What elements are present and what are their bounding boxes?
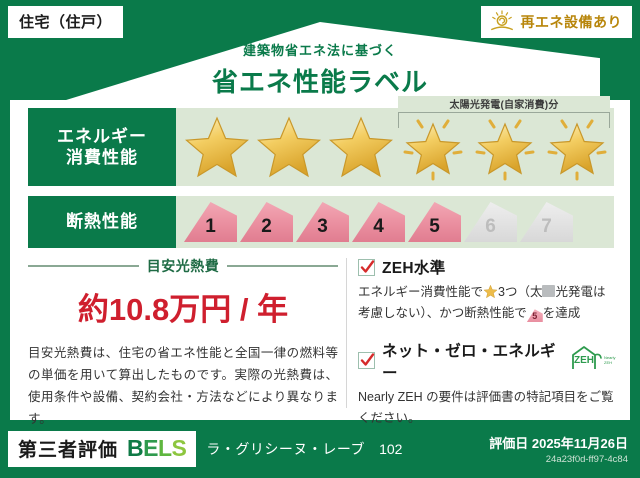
sun-icon — [489, 10, 515, 34]
utility-cost-heading: 目安光熱費 — [28, 256, 338, 276]
bels-logo: BELS — [127, 435, 186, 462]
insulation-scale-area: 1 2 3 4 5 6 7 — [176, 196, 614, 248]
utility-cost-amount: 約10.8万円 / 年 — [28, 284, 338, 329]
title-main: 省エネ性能ラベル — [0, 62, 640, 99]
zeh-section: ZEH水準 エネルギー消費性能で3つ（太光発電は考慮しない）、かつ断熱性能で5を… — [358, 256, 616, 429]
zeh-standard-description: エネルギー消費性能で3つ（太光発電は考慮しない）、かつ断熱性能で5を達成 — [358, 282, 616, 325]
energy-performance-stars-area: 太陽光発電(自家消費)分 — [176, 108, 614, 186]
label-body: エネルギー 消費性能 太陽光発電(自家消費)分 — [10, 100, 630, 420]
insulation-performance-row: 断熱性能 1 2 3 4 5 6 7 — [28, 196, 614, 248]
insulation-scale: 1 2 3 4 5 6 7 — [176, 202, 573, 242]
evaluation-meta: 評価日 2025年11月26日 24a23f0d-ff97-4c84 — [489, 433, 628, 465]
insulation-level: 4 — [352, 202, 405, 242]
evaluation-id: 24a23f0d-ff97-4c84 — [489, 454, 628, 465]
checkbox-checked-icon — [358, 352, 375, 369]
energy-performance-row: エネルギー 消費性能 太陽光発電(自家消費)分 — [28, 108, 614, 186]
bels-jp-label: 第三者評価 — [18, 435, 118, 462]
insulation-level: 1 — [184, 202, 237, 242]
label-title-block: 建築物省エネ法に基づく 省エネ性能ラベル — [0, 40, 640, 99]
insulation-level: 3 — [296, 202, 349, 242]
solar-bracket — [398, 112, 610, 128]
evaluation-date: 評価日 2025年11月26日 — [489, 433, 628, 452]
svg-text:ZEH: ZEH — [574, 355, 594, 366]
zeh-logo-icon: ZEH Nearly ZEH — [570, 345, 616, 376]
bels-evaluation-badge: 第三者評価 BELS — [8, 431, 196, 467]
renewable-equipment-badge: 再エネ設備あり — [481, 6, 633, 38]
insulation-level: 2 — [240, 202, 293, 242]
insulation-level: 6 — [464, 202, 517, 242]
net-zero-energy-title: ネット・ゼロ・エネルギー — [382, 339, 559, 383]
checkbox-checked-icon — [358, 259, 375, 276]
energy-performance-label: エネルギー 消費性能 — [28, 108, 176, 186]
property-unit-number: 102 — [379, 441, 402, 457]
zeh-standard-title: ZEH水準 — [382, 256, 446, 278]
star-icon — [182, 112, 252, 182]
dwelling-type-tag: 住宅（住戸） — [8, 6, 123, 38]
title-subtitle: 建築物省エネ法に基づく — [0, 40, 640, 59]
energy-label-card: 住宅（住戸） 再エネ設備あり 建築物省エネ法に基づく 省エネ性能ラベル — [0, 0, 640, 478]
star-icon — [326, 112, 396, 182]
net-zero-energy-row: ネット・ゼロ・エネルギー ZEH Nearly ZEH — [358, 339, 616, 383]
insulation-level: 5 — [408, 202, 461, 242]
star-icon — [254, 112, 324, 182]
net-zero-energy-description: Nearly ZEH の要件は評価書の特記項目をご覧ください。 — [358, 387, 616, 430]
section-divider — [346, 258, 347, 408]
property-name: ラ・グリシーヌ・レーブ — [206, 439, 365, 459]
utility-cost-section: 目安光熱費 約10.8万円 / 年 目安光熱費は、住宅の省エネ性能と全国一律の燃… — [28, 256, 338, 431]
redacted-character — [542, 285, 555, 297]
insulation-level: 7 — [520, 202, 573, 242]
zeh-standard-row: ZEH水準 — [358, 256, 616, 278]
mini-star-icon — [483, 284, 498, 299]
utility-cost-note: 目安光熱費は、住宅の省エネ性能と全国一律の燃料等の単価を用いて算出したものです。… — [28, 343, 338, 431]
insulation-performance-label: 断熱性能 — [28, 196, 176, 248]
mini-insulation-level-icon: 5 — [527, 309, 543, 322]
renewable-badge-label: 再エネ設備あり — [521, 12, 623, 32]
svg-text:ZEH: ZEH — [604, 360, 612, 365]
